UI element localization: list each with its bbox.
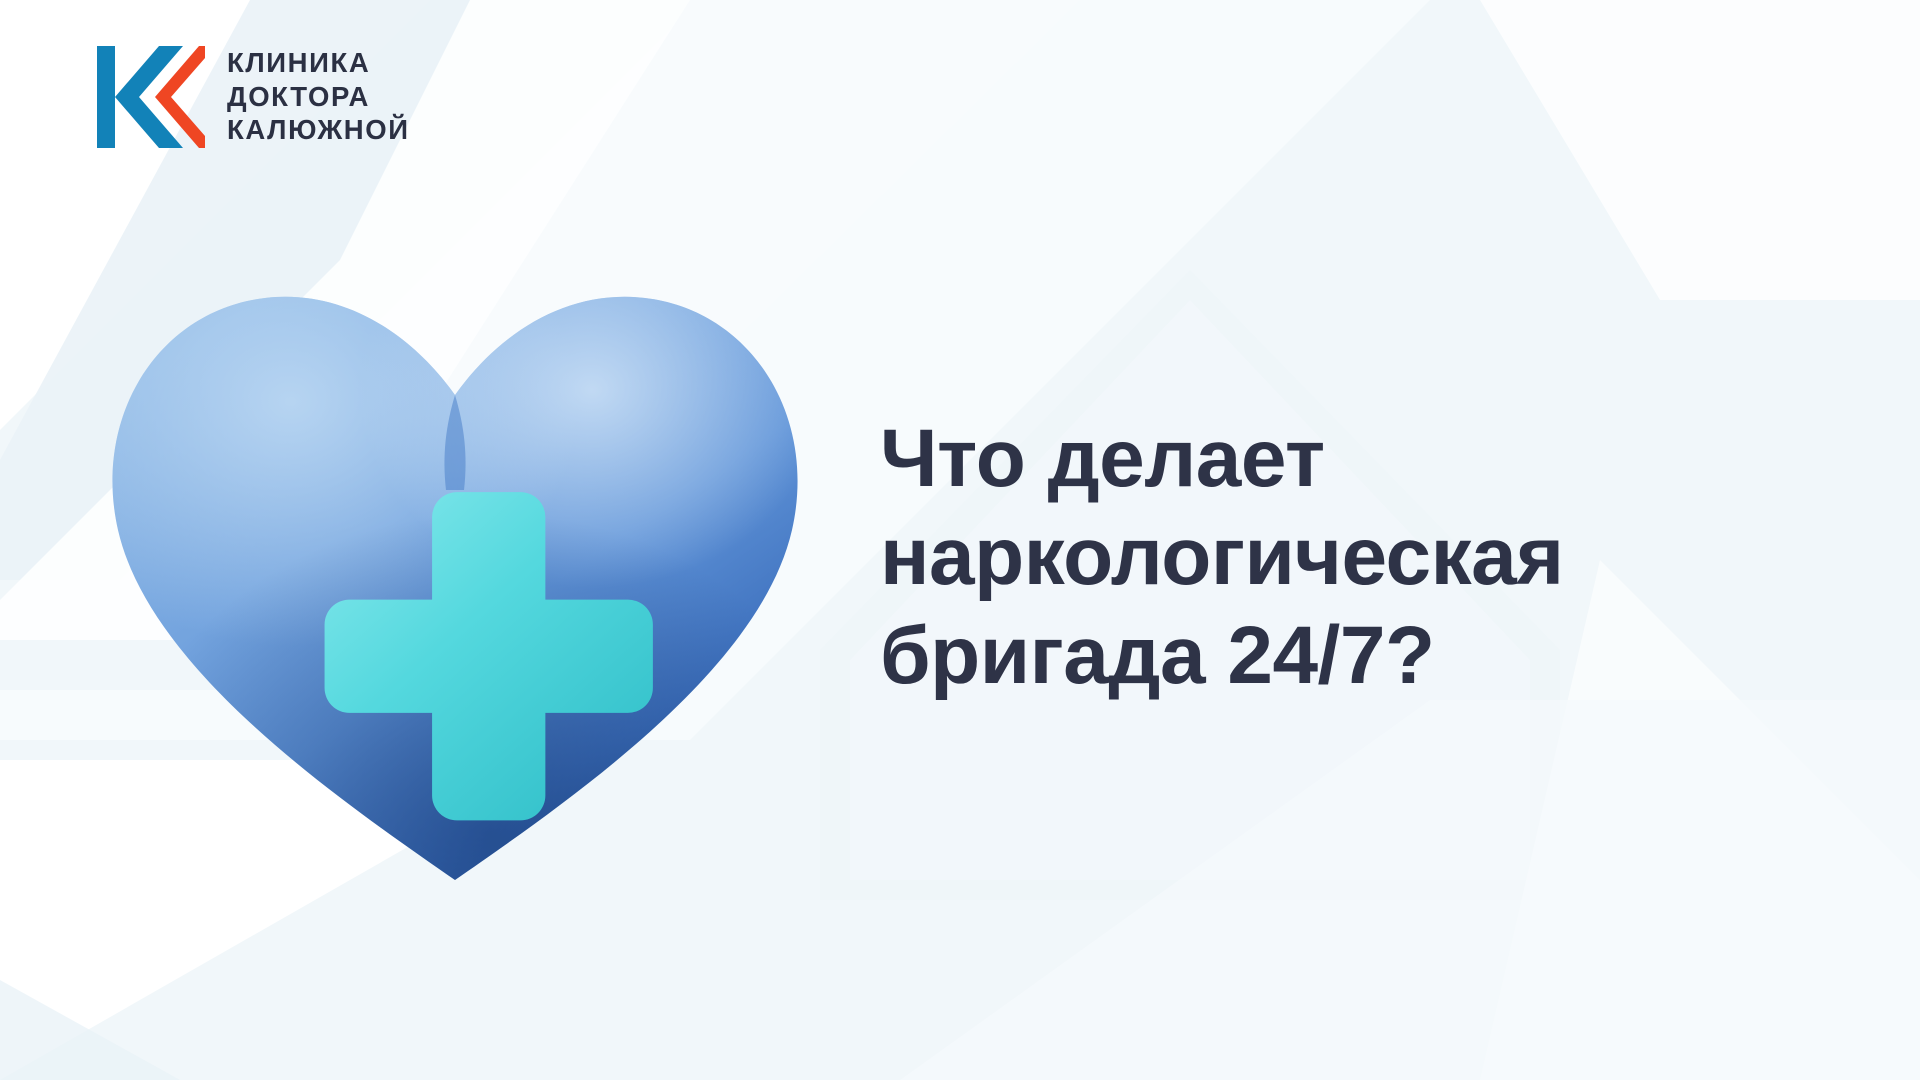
headline-line-1: Что делает <box>880 410 1800 508</box>
heart-with-medical-cross-icon <box>90 240 820 900</box>
brand-name-line-2: ДОКТОРА <box>227 82 410 113</box>
headline-line-2: наркологическая <box>880 508 1800 606</box>
page-title: Что делает наркологическая бригада 24/7? <box>880 410 1800 705</box>
brand-name-line-3: КАЛЮЖНОЙ <box>227 115 410 146</box>
brand-logo[interactable]: КЛИНИКА ДОКТОРА КАЛЮЖНОЙ <box>95 38 410 156</box>
brand-name: КЛИНИКА ДОКТОРА КАЛЮЖНОЙ <box>227 48 410 146</box>
banner-canvas: КЛИНИКА ДОКТОРА КАЛЮЖНОЙ <box>0 0 1920 1080</box>
double-chevron-k-logo-icon <box>95 38 205 156</box>
brand-name-line-1: КЛИНИКА <box>227 48 410 79</box>
heart-illustration-svg <box>90 240 820 900</box>
headline-line-3: бригада 24/7? <box>880 607 1800 705</box>
